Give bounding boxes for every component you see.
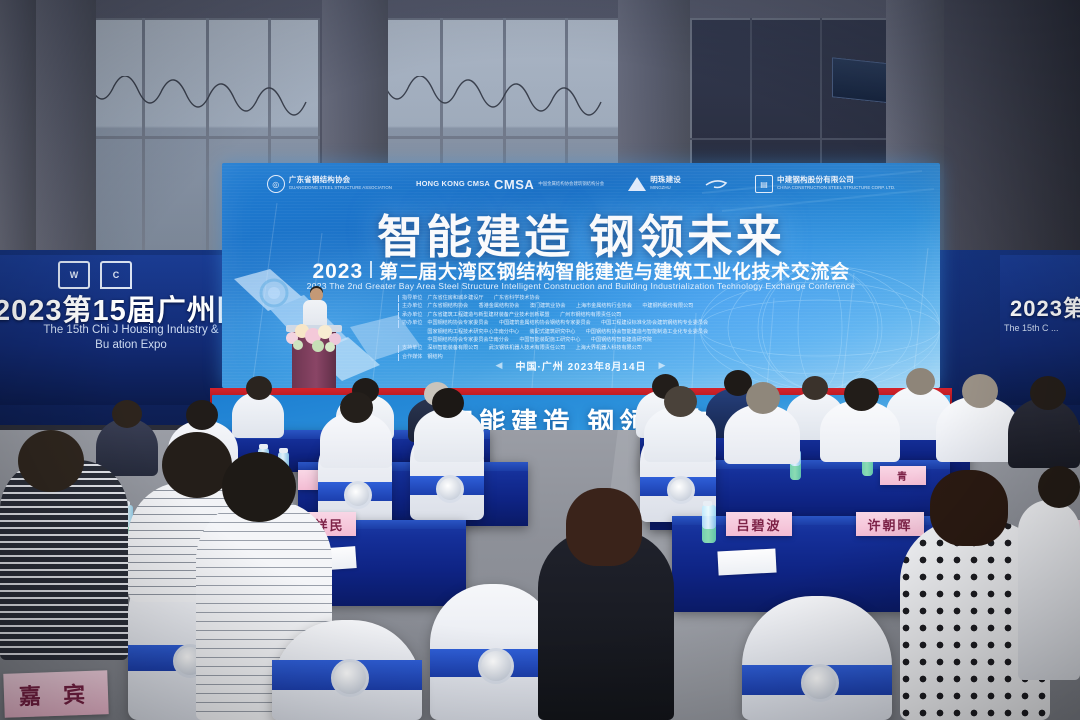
sponsor-triangle-icon	[628, 177, 646, 191]
screen-year: 2023	[312, 260, 363, 284]
chair-ring-buckle	[436, 475, 464, 503]
date-right-arrow-icon: ▶	[659, 360, 667, 371]
screen-date-chip: ◀ 中国·广州 2023年8月14日 ▶	[496, 358, 667, 373]
ceiling-cables-icon	[90, 76, 320, 136]
right-banner-title-en: The 15th C ...	[1004, 321, 1080, 336]
sponsor-1-abbr: HONG KONG CMSA	[416, 180, 490, 188]
organizer-role: 主办单位	[398, 303, 422, 310]
chair-ring-buckle	[344, 481, 372, 509]
organizer-names: 广东省住房和城乡建设厅 广东省科学技术协会	[427, 295, 548, 302]
attendee-head	[664, 386, 697, 417]
chair-ring-buckle	[667, 476, 695, 504]
banner-logo-w-icon: W	[58, 261, 90, 289]
organizer-names: 深圳智能装备有限公司 武汉钢铁机器人技术有限责任公司 上海大界机器人科技有限公司	[427, 345, 650, 352]
attendee-head-ponytail	[566, 488, 642, 566]
chair-ring-buckle	[478, 648, 514, 684]
sponsor-4-name: 中建钢构股份有限公司 CHINA CONSTRUCTION STEEL STRU…	[777, 176, 895, 192]
organizer-names: 中国钢结构协会专家委员会 中国建筑金属结构协会钢结构专家委员会 中国工程建设标准…	[427, 320, 717, 327]
water-bottle	[702, 505, 716, 543]
bottle-cap	[259, 444, 268, 449]
attendee-checked-shirt	[0, 460, 128, 660]
sponsor-logo-0: ◎ 广东省钢结构协会 GUANGDONG STEEL STRUCTURE ASS…	[267, 175, 392, 193]
organizer-row: 协办单位 中国钢结构协会专家委员会 中国建筑金属结构协会钢结构专家委员会 中国工…	[398, 320, 818, 327]
organizer-names: 广东省建筑工程建造与新型建材装备产业技术创新联盟 广州市钢结构有限责任公司	[427, 312, 630, 319]
sponsor-1-sub: 中国金属结构协会建筑钢结构分会	[538, 180, 604, 188]
sponsor-1-en: 中国金属结构协会建筑钢结构分会	[538, 180, 604, 188]
right-banner-title-cn: 2023第15届	[1010, 291, 1080, 323]
attendee-head	[18, 430, 84, 492]
attendee-head	[340, 392, 373, 423]
screen-sponsor-logos: ◎ 广东省钢结构协会 GUANGDONG STEEL STRUCTURE ASS…	[222, 175, 940, 193]
organizer-role: 协办单位	[398, 320, 422, 327]
attendee	[1018, 500, 1080, 680]
name-card: 许朝晖	[856, 512, 924, 536]
organizer-names: 中国钢结构协会专家委员会华南分会 中国智能装配施工研究中心 中国钢结构智能建造研…	[427, 337, 661, 344]
handout-paper	[717, 548, 776, 575]
podium-flowers	[282, 318, 346, 354]
sponsor-logo-1: HONG KONG CMSA CMSA 中国金属结构协会建筑钢结构分会	[416, 177, 604, 192]
organizer-role: 指导单位	[398, 295, 422, 302]
left-banner-en-2: Bu	[95, 339, 109, 351]
organizer-role: 合作媒体	[398, 354, 422, 361]
screen-date-location: 中国·广州 2023年8月14日	[515, 358, 646, 373]
attendee-head	[1038, 466, 1080, 508]
date-left-arrow-icon: ◀	[496, 360, 504, 371]
organizer-row: 承办单位 国家钢结构工程技术研究中心华南分中心 装配式建筑研究中心 中国钢结构协…	[398, 329, 818, 336]
left-side-banner: W C 2023第15届广州国际住博会 The 15th Chi J Housi…	[0, 255, 232, 405]
chair-ring-buckle	[801, 664, 839, 702]
chair-ring-buckle	[331, 659, 369, 697]
sponsor-square-icon: ▤	[755, 175, 773, 193]
attendee-head	[222, 452, 296, 522]
banner-logo-cihie-icon: C	[100, 261, 132, 289]
sponsor-4-en: CHINA CONSTRUCTION STEEL STRUCTURE CORP.…	[777, 184, 895, 192]
organizer-row: 合作媒体 钢结构	[398, 354, 818, 361]
sponsor-2-en: MINGZHU	[650, 184, 681, 192]
attendee-head	[844, 378, 879, 411]
screen-subtitle-row: 2023 第二届大湾区钢结构智能建造与建筑工业化技术交流会	[222, 257, 940, 284]
name-card-guest: 嘉 宾	[3, 670, 108, 718]
attendee-head	[246, 376, 272, 400]
bottle-cap	[279, 448, 288, 453]
sponsor-1-abbr-text: HONG KONG CMSA	[416, 179, 490, 188]
attendee-head	[112, 400, 142, 428]
name-card: 吕碧波	[726, 512, 792, 536]
screen-subtitle-en: 2023 The 2nd Greater Bay Area Steel Stru…	[222, 281, 940, 291]
organizer-row: 承办单位 广东省建筑工程建造与新型建材装备产业技术创新联盟 广州市钢结构有限责任…	[398, 312, 818, 319]
organizer-names: 钢结构	[427, 354, 451, 361]
sponsor-swoosh-icon	[705, 176, 731, 192]
chair	[742, 596, 892, 720]
screen-divider	[370, 261, 372, 278]
organizer-row: 主办单位 广东省钢结构协会 香港金属结构协会 澳门建筑业协会 上海市金属结构行业…	[398, 303, 818, 310]
organizer-row: 承办单位 中国钢结构协会专家委员会华南分会 中国智能装配施工研究中心 中国钢结构…	[398, 337, 818, 344]
organizer-names: 广东省钢结构协会 香港金属结构协会 澳门建筑业协会 上海市金属结构行业协会 中建…	[427, 303, 702, 310]
organizer-names: 国家钢结构工程技术研究中心华南分中心 装配式建筑研究中心 中国钢结构协会智能建造…	[427, 329, 717, 336]
left-banner-en-4: ation Expo	[112, 339, 166, 351]
conference-photo: EXIT 4.5 W C 2023第15届广州国际住博会 The 15th Ch…	[0, 0, 1080, 720]
attendee-head	[1030, 376, 1066, 410]
attendee-head	[746, 382, 780, 414]
organizer-row: 支持单位 深圳智能装备有限公司 武汉钢铁机器人技术有限责任公司 上海大界机器人科…	[398, 345, 818, 352]
attendee-head	[930, 470, 1008, 546]
left-banner-title-en: The 15th Chi J Housing Industry & Bu ati…	[26, 323, 232, 353]
sponsor-2-name: 明珠建设 MINGZHU	[650, 176, 681, 192]
attendee-head	[432, 388, 464, 418]
screen-subtitle-cn: 第二届大湾区钢结构智能建造与建筑工业化技术交流会	[379, 257, 849, 284]
organizer-row: 指导单位 广东省住房和城乡建设厅 广东省科学技术协会	[398, 295, 818, 302]
attendee-head	[802, 376, 828, 400]
left-banner-en-1: The 15th Chi	[43, 324, 109, 336]
left-banner-logos: W C	[58, 261, 132, 289]
screen-organizer-block: 指导单位 广东省住房和城乡建设厅 广东省科学技术协会 主办单位 广东省钢结构协会…	[398, 295, 818, 362]
sponsor-logo-4: ▤ 中建钢构股份有限公司 CHINA CONSTRUCTION STEEL ST…	[755, 175, 895, 193]
attendee-head	[906, 368, 935, 395]
sponsor-0-cn: 广东省钢结构协会	[289, 175, 351, 184]
organizer-role: 承办单位	[398, 312, 422, 319]
sponsor-2-cn: 明珠建设	[650, 175, 681, 184]
name-card: 青	[880, 466, 926, 485]
sponsor-4-cn: 中建钢构股份有限公司	[777, 175, 854, 184]
sponsor-logo-2: 明珠建设 MINGZHU	[628, 176, 681, 192]
attendee-head	[962, 374, 998, 408]
sponsor-0-en: GUANGDONG STEEL STRUCTURE ASSOCIATION	[289, 184, 392, 192]
bottle-cap	[703, 501, 712, 506]
screen-mesh-globe-graphic	[650, 218, 940, 388]
sponsor-circle-icon: ◎	[267, 175, 285, 193]
organizer-role: 支持单位	[398, 345, 422, 352]
left-banner-en-3: J Housing Industry &	[112, 324, 218, 336]
screen-main-title: 智能建造 钢领未来	[222, 201, 940, 267]
sponsor-0-name: 广东省钢结构协会 GUANGDONG STEEL STRUCTURE ASSOC…	[289, 176, 392, 192]
ceiling-cables-icon-center	[385, 76, 620, 136]
sponsor-logo-3	[705, 176, 731, 192]
attendee-head	[186, 400, 218, 430]
sponsor-1-cmsa: CMSA	[494, 177, 534, 192]
